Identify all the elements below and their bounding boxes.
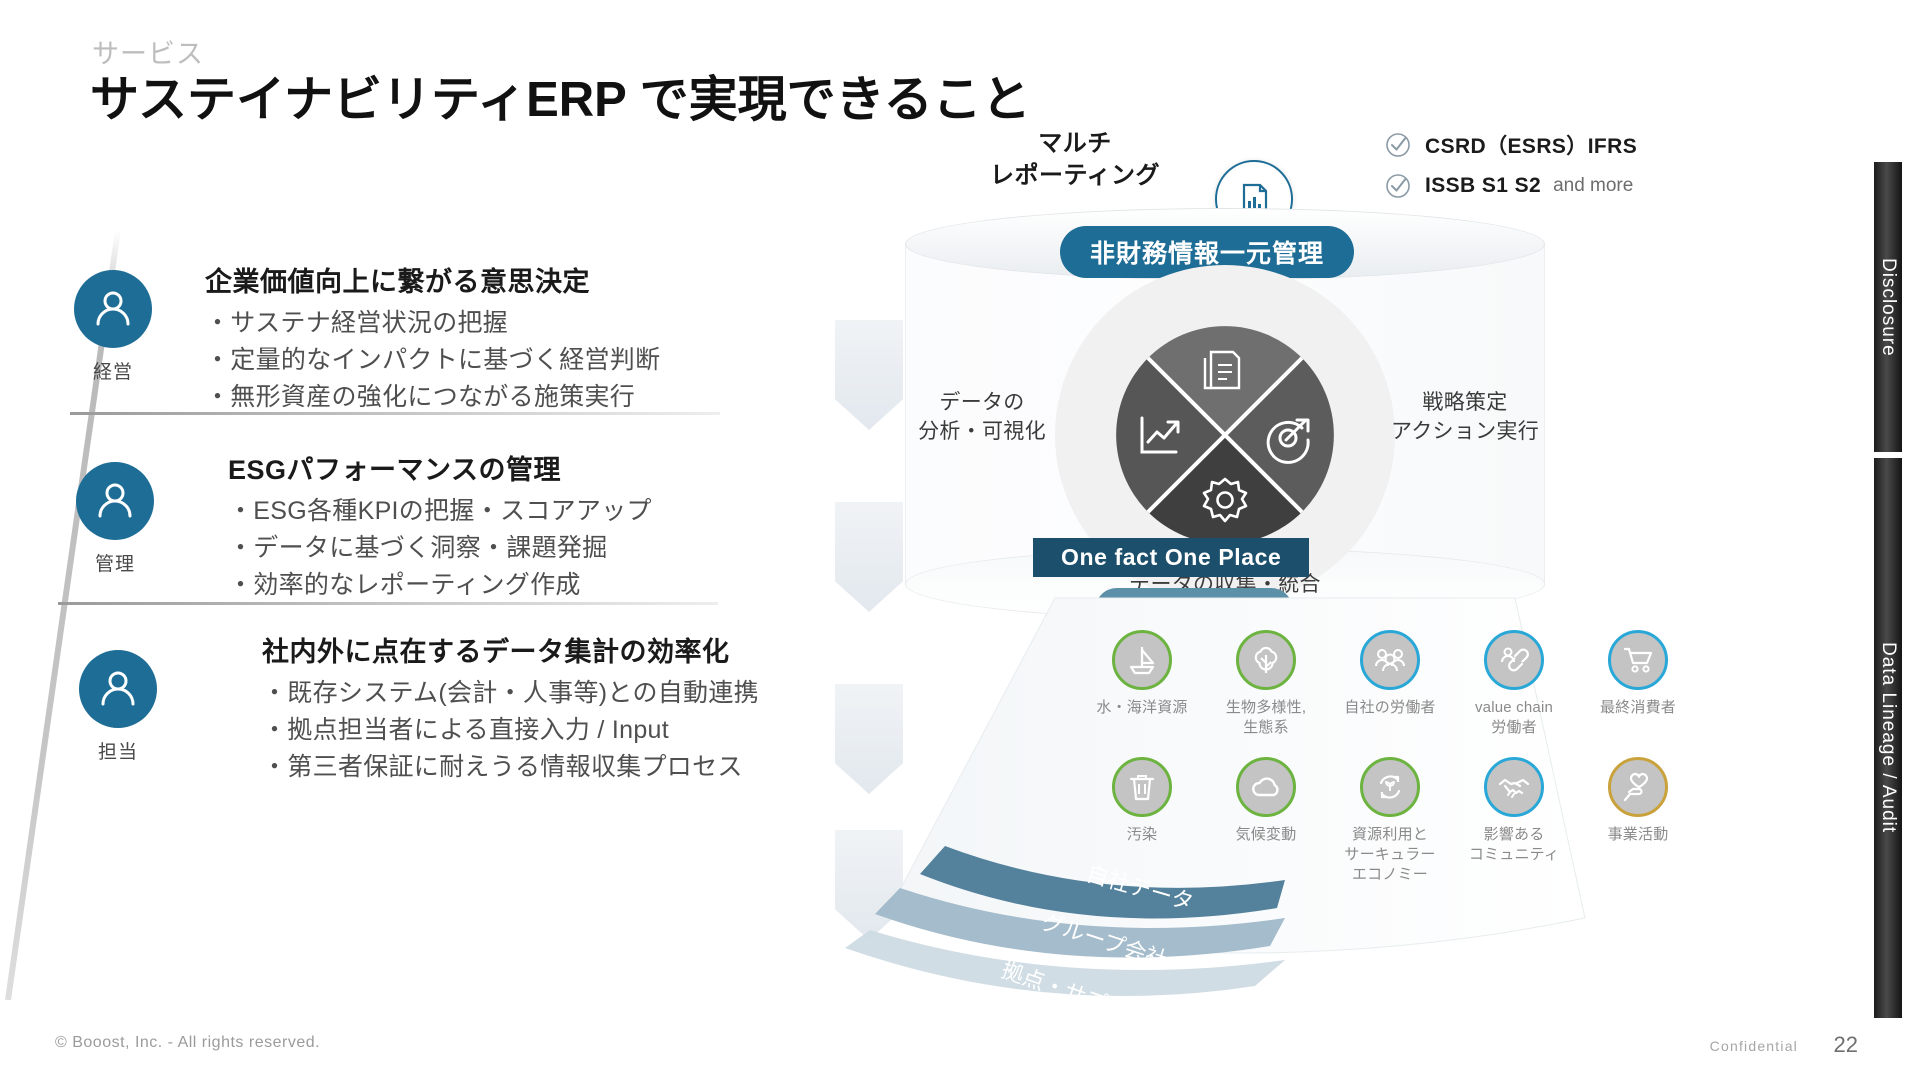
list-item: ・効率的なレポーティング作成 bbox=[228, 567, 652, 604]
wheel-label-left-line1: データの bbox=[897, 388, 1067, 417]
standards-list: CSRD（ESRS）IFRS ISSB S1 S2 and more bbox=[1385, 130, 1649, 212]
list-item: ・サステナ経営状況の把握 bbox=[205, 305, 660, 342]
persona-label: 担当 bbox=[58, 737, 178, 764]
side-bar-disclosure: Disclosure bbox=[1874, 162, 1902, 452]
consumer-cart-icon bbox=[1608, 630, 1668, 690]
persona-staff: 担当 bbox=[58, 650, 178, 764]
esg-topic-business-conduct: 事業活動 bbox=[1576, 757, 1700, 886]
value-chain-icon bbox=[1484, 630, 1544, 690]
own-workers-icon bbox=[1360, 630, 1420, 690]
standard-extra: and more bbox=[1553, 175, 1633, 197]
standard-item-csrd: CSRD（ESRS）IFRS bbox=[1385, 130, 1649, 160]
erp-architecture-diagram: マルチ レポーティング CSRD（ESRS）IFRS bbox=[905, 120, 1805, 1000]
block-heading: ESGパフォーマンスの管理 bbox=[228, 448, 652, 487]
trash-pollution-icon bbox=[1112, 757, 1172, 817]
esg-topic-label-2: 生態系 bbox=[1204, 718, 1328, 738]
esg-topic-label: 事業活動 bbox=[1576, 825, 1700, 845]
block-bullets: ・既存システム(会計・人事等)との自動連携 ・拠点担当者による直接入力 / In… bbox=[262, 675, 759, 786]
esg-topic-label: value chain bbox=[1452, 698, 1576, 718]
one-fact-one-place-banner: One fact One Place bbox=[1033, 538, 1309, 577]
esg-topic-climate: 気候変動 bbox=[1204, 757, 1328, 886]
persona-management: 経営 bbox=[53, 270, 173, 384]
left-block-3: 社内外に点在するデータ集計の効率化 ・既存システム(会計・人事等)との自動連携 … bbox=[262, 630, 759, 786]
standard-label: CSRD（ESRS）IFRS bbox=[1425, 130, 1637, 160]
esg-topic-label-2: サーキュラー bbox=[1328, 845, 1452, 865]
side-bar-data-lineage: Data Lineage / Audit bbox=[1874, 458, 1902, 1018]
list-item: ・既存システム(会計・人事等)との自動連携 bbox=[262, 675, 759, 712]
esg-topic-row-1: 水・海洋資源 生物多様性, 生態系 bbox=[1080, 630, 1700, 739]
block-bullets: ・ESG各種KPIの把握・スコアアップ ・データに基づく洞察・課題発掘 ・効率的… bbox=[228, 493, 652, 604]
side-bar-label: Data Lineage / Audit bbox=[1877, 642, 1899, 833]
cloud-climate-icon bbox=[1236, 757, 1296, 817]
list-item: ・定量的なインパクトに基づく経営判断 bbox=[205, 342, 660, 379]
esg-topic-label: 最終消費者 bbox=[1576, 698, 1700, 718]
multi-reporting-line2: レポーティング bbox=[960, 160, 1190, 192]
handshake-community-icon bbox=[1484, 757, 1544, 817]
esg-topic-value-chain: value chain 労働者 bbox=[1452, 630, 1576, 739]
persona-label: 管理 bbox=[55, 549, 175, 576]
list-item: ・ESG各種KPIの把握・スコアアップ bbox=[228, 493, 652, 530]
tree-biodiversity-icon bbox=[1236, 630, 1296, 690]
esg-topic-water: 水・海洋資源 bbox=[1080, 630, 1204, 739]
list-item: ・拠点担当者による直接入力 / Input bbox=[262, 712, 759, 749]
footer-copyright: © Booost, Inc. - All rights reserved. bbox=[55, 1034, 320, 1052]
wheel-label-right-line2: アクション実行 bbox=[1375, 417, 1555, 446]
side-bar-label: Disclosure bbox=[1877, 258, 1899, 357]
esg-topic-label-2: 労働者 bbox=[1452, 718, 1576, 738]
esg-topic-label-2: コミュニティ bbox=[1452, 845, 1576, 865]
esg-topic-label: 資源利用と bbox=[1328, 825, 1452, 845]
esg-topic-label: 気候変動 bbox=[1204, 825, 1328, 845]
chevron-down-icon bbox=[835, 320, 903, 430]
check-circle-icon bbox=[1385, 173, 1411, 199]
water-ocean-icon bbox=[1112, 630, 1172, 690]
heart-hand-icon bbox=[1608, 757, 1668, 817]
esg-topic-biodiversity: 生物多様性, 生態系 bbox=[1204, 630, 1328, 739]
esg-topic-grid: 水・海洋資源 生物多様性, 生態系 bbox=[1080, 630, 1700, 885]
esg-topic-row-2: 汚染 気候変動 bbox=[1080, 757, 1700, 886]
multi-reporting-line1: マルチ bbox=[960, 128, 1190, 160]
circular-economy-icon bbox=[1360, 757, 1420, 817]
esg-topic-affected-communities: 影響ある コミュニティ bbox=[1452, 757, 1576, 886]
block-heading: 企業価値向上に繋がる意思決定 bbox=[205, 260, 660, 299]
wheel-label-right: 戦略策定 アクション実行 bbox=[1375, 388, 1555, 447]
esg-topic-label-3: エコノミー bbox=[1328, 865, 1452, 885]
esg-topic-label: 影響ある bbox=[1452, 825, 1576, 845]
esg-topic-own-workers: 自社の労働者 bbox=[1328, 630, 1452, 739]
check-circle-icon bbox=[1385, 132, 1411, 158]
list-item: ・第三者保証に耐えうる情報収集プロセス bbox=[262, 749, 759, 786]
footer-page-number: 22 bbox=[1834, 1032, 1858, 1058]
left-block-2: ESGパフォーマンスの管理 ・ESG各種KPIの把握・スコアアップ ・データに基… bbox=[228, 448, 652, 604]
wheel-label-left: データの 分析・可視化 bbox=[897, 388, 1067, 447]
wheel-label-right-line1: 戦略策定 bbox=[1375, 388, 1555, 417]
standard-item-issb: ISSB S1 S2 and more bbox=[1385, 173, 1649, 199]
esg-topic-circular-economy: 資源利用と サーキュラー エコノミー bbox=[1328, 757, 1452, 886]
esg-topic-label: 水・海洋資源 bbox=[1080, 698, 1204, 718]
standard-label: ISSB S1 S2 bbox=[1425, 174, 1541, 198]
multi-reporting-label: マルチ レポーティング bbox=[960, 128, 1190, 193]
left-block-1: 企業価値向上に繋がる意思決定 ・サステナ経営状況の把握 ・定量的なインパクトに基… bbox=[205, 260, 660, 416]
page-title: サステイナビリティERP で実現できること bbox=[90, 60, 1031, 131]
capability-wheel bbox=[1100, 310, 1350, 560]
persona-label: 経営 bbox=[53, 357, 173, 384]
list-item: ・データに基づく洞察・課題発掘 bbox=[228, 530, 652, 567]
esg-topic-pollution: 汚染 bbox=[1080, 757, 1204, 886]
block-heading: 社内外に点在するデータ集計の効率化 bbox=[262, 630, 759, 669]
esg-topic-end-consumer: 最終消費者 bbox=[1576, 630, 1700, 739]
esg-topic-label: 生物多様性, bbox=[1204, 698, 1328, 718]
list-item: ・無形資産の強化につながる施策実行 bbox=[205, 379, 660, 416]
esg-topic-label: 自社の労働者 bbox=[1328, 698, 1452, 718]
person-icon bbox=[79, 650, 157, 728]
persona-admin: 管理 bbox=[55, 462, 175, 576]
block-bullets: ・サステナ経営状況の把握 ・定量的なインパクトに基づく経営判断 ・無形資産の強化… bbox=[205, 305, 660, 416]
left-column: 経営 企業価値向上に繋がる意思決定 ・サステナ経営状況の把握 ・定量的なインパク… bbox=[0, 230, 840, 1000]
esg-topic-label: 汚染 bbox=[1080, 825, 1204, 845]
person-icon bbox=[76, 462, 154, 540]
footer-confidential: Confidential bbox=[1710, 1038, 1798, 1054]
wheel-label-left-line2: 分析・可視化 bbox=[897, 417, 1067, 446]
slide-root: サービス サステイナビリティERP で実現できること bbox=[0, 0, 1920, 1080]
person-icon bbox=[74, 270, 152, 348]
